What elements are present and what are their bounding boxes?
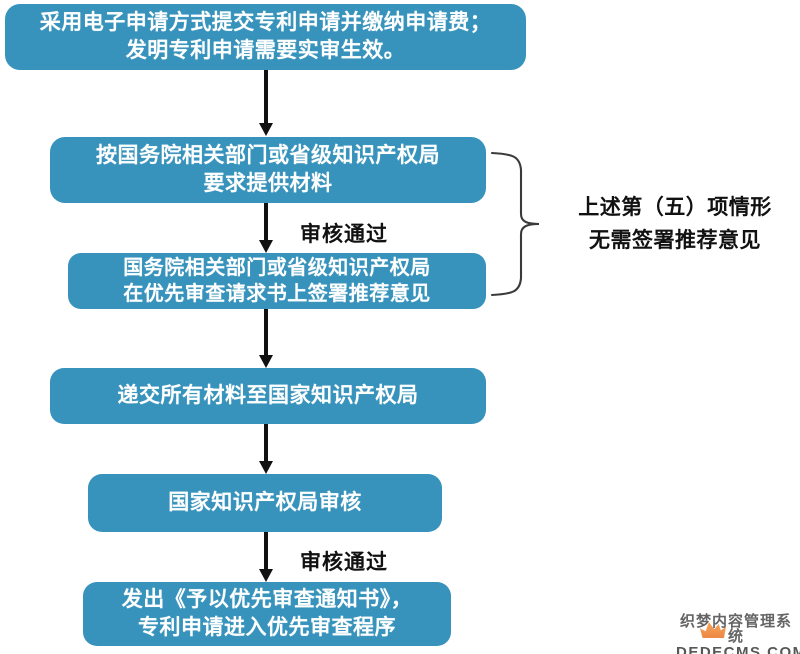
watermark-en-text: DEDECMS.COM [676, 645, 796, 654]
flow-node-issue-notice: 发出《予以优先审查通知书》， 专利申请进入优先审查程序 [83, 582, 451, 646]
flow-node-cnipa-review: 国家知识产权局审核 [88, 474, 442, 532]
arrow-head-icon [259, 569, 273, 582]
arrow-head-icon [259, 123, 273, 136]
flow-node-submit-all-materials: 递交所有材料至国家知识产权局 [50, 368, 486, 424]
flow-node-provide-materials: 按国务院相关部门或省级知识产权局 要求提供材料 [50, 137, 486, 203]
flow-node-sign-recommendation: 国务院相关部门或省级知识产权局 在优先审查请求书上签署推荐意见 [68, 253, 486, 309]
flowchart-canvas: 采用电子申请方式提交专利申请并缴纳申请费； 发明专利申请需要实审生效。 按国务院… [0, 0, 800, 654]
side-note-exemption: 上述第（五）项情形 无需签署推荐意见 [560, 192, 790, 257]
arrow-shaft [264, 424, 268, 462]
brace-icon [490, 148, 546, 300]
watermark: 织梦内容管理系统 DEDECMS.COM [676, 614, 796, 654]
arrow-head-icon [259, 461, 273, 474]
arrow-head-icon [259, 355, 273, 368]
edge-label-review-passed-2: 审核通过 [300, 546, 388, 576]
watermark-cn-text: 织梦内容管理系统 [676, 614, 796, 644]
arrow-shaft [264, 532, 268, 570]
arrow-head-icon [259, 240, 273, 253]
arrow-shaft [264, 203, 268, 241]
arrow-shaft [264, 309, 268, 356]
arrow-shaft [264, 70, 268, 124]
flow-node-application-submission: 采用电子申请方式提交专利申请并缴纳申请费； 发明专利申请需要实审生效。 [5, 4, 526, 70]
grouping-brace [490, 148, 546, 300]
edge-label-review-passed-1: 审核通过 [300, 218, 388, 248]
